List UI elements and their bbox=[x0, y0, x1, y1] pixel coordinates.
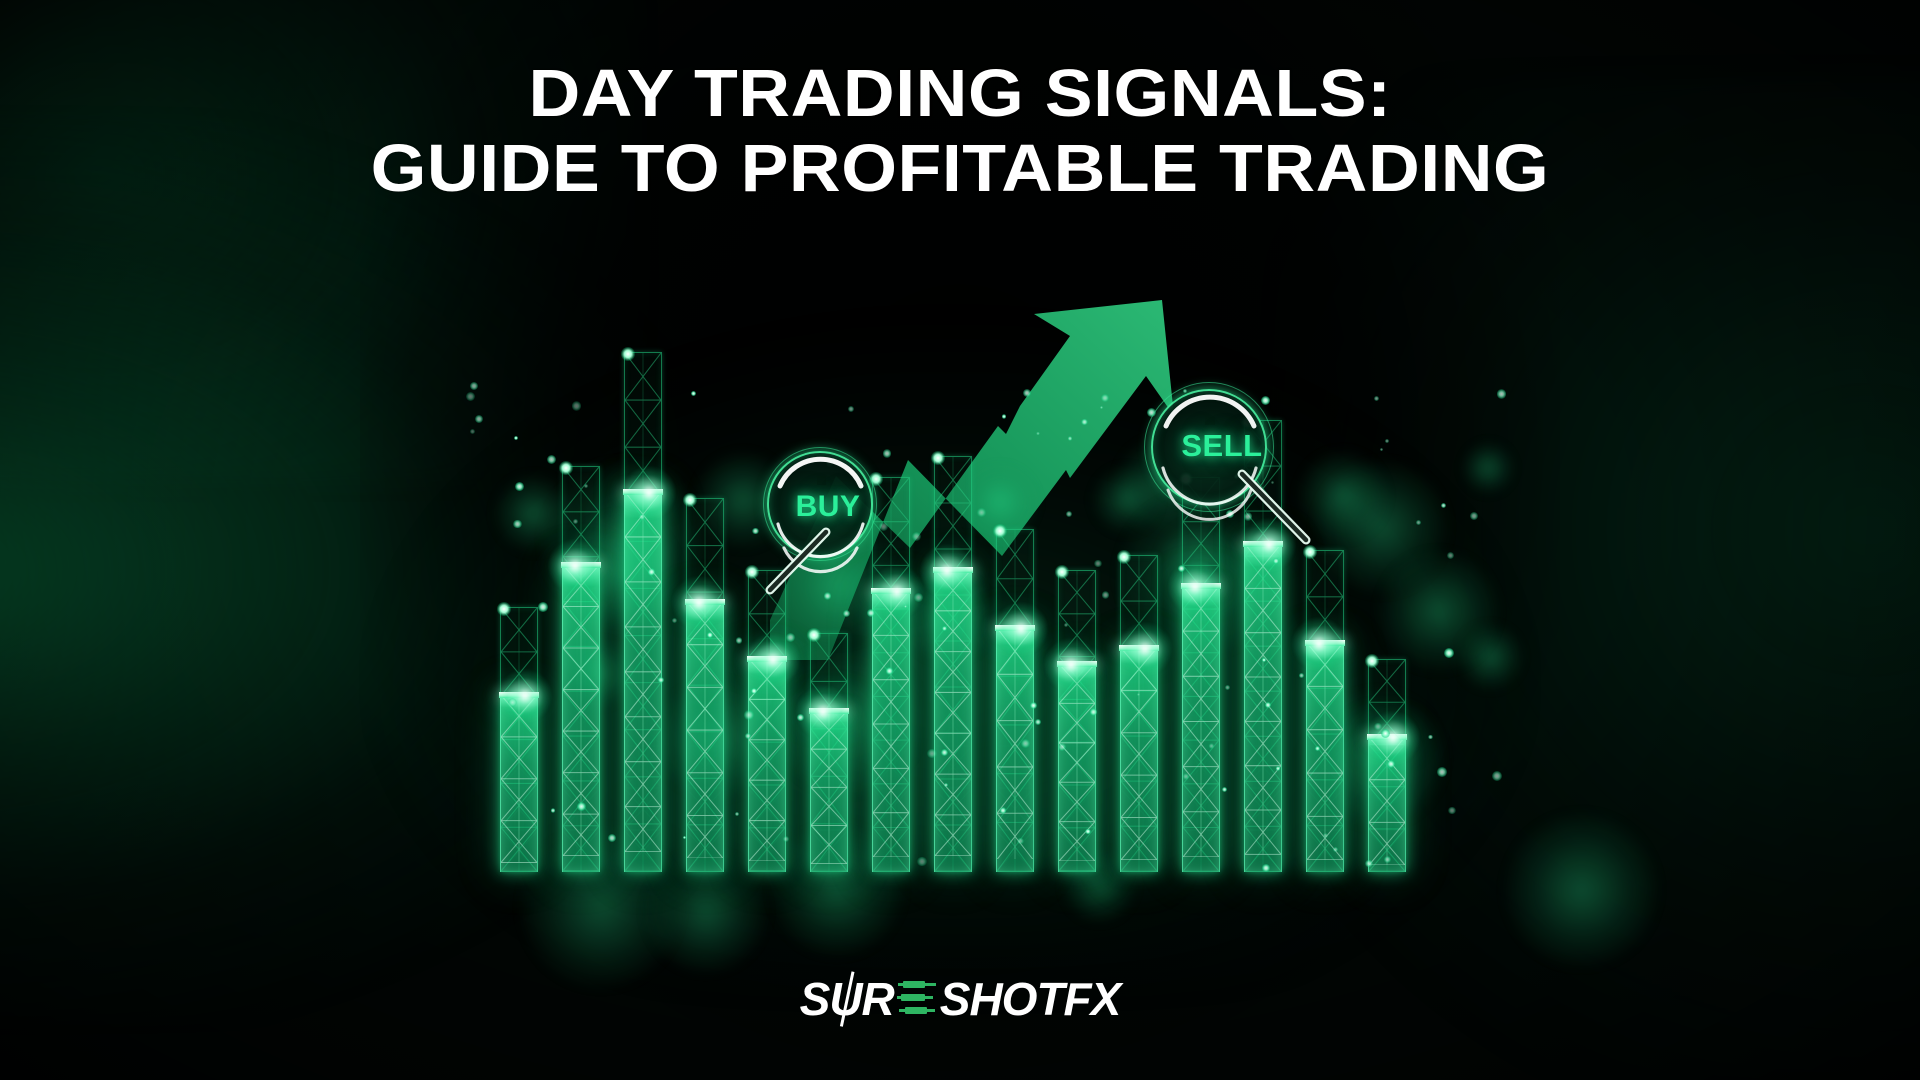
bar-chart-bar bbox=[562, 466, 600, 872]
bar-reflection bbox=[996, 662, 1034, 872]
bar-cap-glow bbox=[994, 602, 1048, 656]
bar-chart-bar bbox=[500, 607, 538, 872]
bar-outline-top-glow bbox=[993, 524, 1007, 538]
glow-particle bbox=[584, 484, 588, 488]
bar-outline-top-glow bbox=[683, 493, 697, 507]
poster-canvas: DAY TRADING SIGNALS: GUIDE TO PROFITABLE… bbox=[0, 0, 1920, 1080]
bar-chart-bar bbox=[934, 456, 972, 872]
bar-reflection bbox=[562, 662, 600, 872]
glow-particle bbox=[1492, 771, 1502, 781]
glow-particle bbox=[551, 808, 555, 812]
bar-cap-glow bbox=[920, 544, 974, 598]
glow-particle bbox=[538, 602, 548, 612]
bar-chart-bar bbox=[624, 352, 662, 872]
bar-chart-bar bbox=[1120, 555, 1158, 872]
brand-logo[interactable]: SUR SHO bbox=[0, 976, 1920, 1022]
glow-particle bbox=[1030, 702, 1037, 709]
bar-outline-top-glow bbox=[807, 628, 821, 642]
bar-reflection bbox=[624, 662, 662, 872]
glow-particle bbox=[515, 482, 524, 491]
glow-particle bbox=[1448, 807, 1455, 814]
logo-text-after: SHOTFX bbox=[940, 976, 1121, 1022]
bar-cap-glow bbox=[622, 466, 676, 520]
bar-outline-top-glow bbox=[1117, 550, 1131, 564]
glow-particle bbox=[1384, 856, 1391, 863]
glow-particle bbox=[797, 714, 804, 721]
glow-particle bbox=[977, 508, 985, 516]
glow-particle bbox=[1023, 389, 1031, 397]
glow-particle bbox=[1066, 511, 1073, 518]
page-title: DAY TRADING SIGNALS: GUIDE TO PROFITABLE… bbox=[0, 62, 1920, 202]
bar-outline-top-glow bbox=[621, 347, 635, 361]
glow-particle bbox=[1441, 503, 1446, 508]
bar-outline-top-glow bbox=[931, 451, 945, 465]
glow-particle bbox=[1299, 673, 1304, 678]
bar-chart-bar bbox=[996, 529, 1034, 872]
glow-particle bbox=[1444, 648, 1454, 658]
glow-particle bbox=[1085, 829, 1091, 835]
buy-signal-badge[interactable]: BUY bbox=[768, 452, 888, 622]
bar-chart-bar bbox=[1058, 570, 1096, 872]
glow-particle bbox=[648, 568, 655, 575]
bar-reflection bbox=[810, 662, 848, 872]
glow-particle bbox=[508, 698, 517, 707]
bar-reflection bbox=[1182, 662, 1220, 872]
bar-reflection bbox=[872, 662, 910, 872]
glow-particle bbox=[744, 710, 754, 720]
glow-particle bbox=[1381, 729, 1390, 738]
bar-reflection bbox=[1306, 662, 1344, 872]
title-line-2: GUIDE TO PROFITABLE TRADING bbox=[0, 137, 1920, 201]
bar-cap-glow bbox=[548, 539, 602, 593]
glow-particle bbox=[1035, 719, 1041, 725]
glow-particle bbox=[572, 401, 581, 410]
glow-particle bbox=[1276, 766, 1280, 770]
glow-particle bbox=[1068, 436, 1073, 441]
sell-label: SELL bbox=[1152, 428, 1292, 464]
glow-particle bbox=[1209, 743, 1215, 749]
glow-particle bbox=[751, 688, 757, 694]
logo-text-before: SUR bbox=[800, 976, 894, 1022]
bar-cap-glow bbox=[672, 576, 726, 630]
glow-particle bbox=[1064, 623, 1068, 627]
glow-particle bbox=[1380, 448, 1383, 451]
glow-particle bbox=[1365, 860, 1373, 868]
sell-signal-badge[interactable]: SELL bbox=[1152, 390, 1292, 590]
bar-reflection bbox=[1058, 662, 1096, 872]
candlestick-bars-icon bbox=[895, 978, 939, 1020]
glow-particle bbox=[1497, 389, 1507, 399]
bar-chart-bar bbox=[810, 633, 848, 872]
magnifier-handle bbox=[746, 524, 836, 614]
bar-outline-top-glow bbox=[497, 602, 511, 616]
bar-reflection bbox=[686, 662, 724, 872]
glow-particle bbox=[745, 733, 751, 739]
glow-particle bbox=[1058, 743, 1066, 751]
buy-label: BUY bbox=[768, 490, 888, 524]
bar-reflection bbox=[1368, 662, 1406, 872]
glow-particle bbox=[1102, 591, 1109, 598]
glow-particle bbox=[1101, 394, 1109, 402]
glow-particle bbox=[927, 749, 936, 758]
glow-particle bbox=[707, 632, 713, 638]
bar-chart-bar bbox=[686, 498, 724, 872]
glow-particle bbox=[513, 520, 522, 529]
glow-particle bbox=[1262, 864, 1270, 872]
glow-particle bbox=[1385, 439, 1388, 442]
glow-particle bbox=[1387, 760, 1395, 768]
glow-particle bbox=[466, 392, 475, 401]
glow-particle bbox=[1265, 702, 1271, 708]
glow-particle bbox=[1416, 520, 1421, 525]
glow-particle bbox=[1002, 414, 1006, 418]
glow-particle bbox=[1437, 767, 1447, 777]
bar-reflection bbox=[934, 662, 972, 872]
glow-particle bbox=[917, 857, 926, 866]
glow-particle bbox=[470, 382, 478, 390]
title-line-1: DAY TRADING SIGNALS: bbox=[0, 62, 1920, 126]
bar-reflection bbox=[500, 662, 538, 872]
glow-particle bbox=[1000, 807, 1006, 813]
glow-particle bbox=[736, 637, 743, 644]
magnifier-handle bbox=[1234, 468, 1334, 568]
bar-chart-bar bbox=[1306, 550, 1344, 872]
